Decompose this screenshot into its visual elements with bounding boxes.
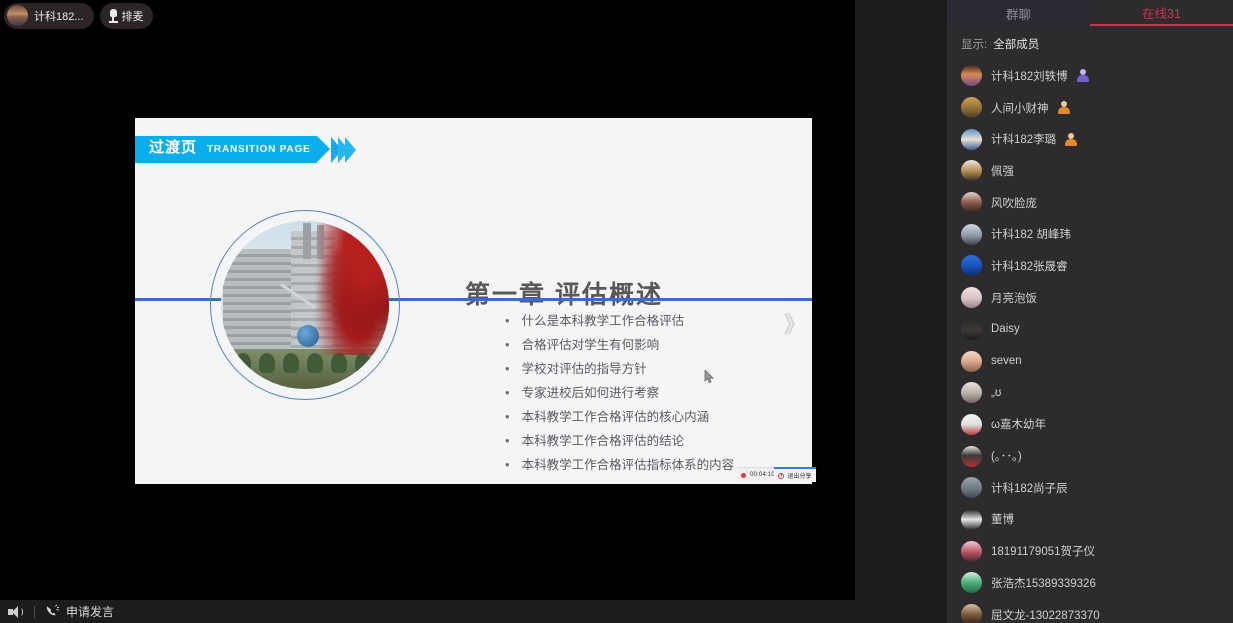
avatar — [961, 446, 982, 467]
member-name: 风吹脸庞 — [991, 195, 1037, 211]
list-item: • 本科教学工作合格评估的结论 — [505, 433, 805, 448]
bullet-text: 专家进校后如何进行考察 — [522, 385, 660, 400]
member-name: 张浩杰15389339326 — [991, 575, 1096, 591]
avatar — [961, 414, 982, 435]
bullet-marker: • — [505, 361, 510, 376]
member-name: seven — [991, 355, 1022, 367]
bullet-text: 本科教学工作合格评估指标体系的内容 — [522, 457, 735, 472]
list-item[interactable]: 人间小财神 — [947, 92, 1233, 124]
role-badge-icon — [1058, 101, 1070, 114]
member-name: 计科182张晟睿 — [991, 258, 1068, 274]
record-dot-icon — [741, 473, 746, 478]
member-name: 计科182 胡峰玮 — [991, 226, 1071, 242]
member-name: 计科182李璐 — [991, 131, 1056, 147]
presentation-slide[interactable]: 过渡页 TRANSITION PAGE — [135, 118, 812, 484]
avatar — [961, 541, 982, 562]
list-item: • 合格评估对学生有何影响 — [505, 337, 805, 352]
stage-top-chips: 计科182... 排麦 — [0, 0, 140, 31]
avatar — [961, 604, 982, 623]
member-list: 计科182刘轶博人间小财神计科182李璐佩强风吹脸庞计科182 胡峰玮计科182… — [947, 58, 1233, 623]
member-name: 人间小财神 — [991, 100, 1049, 116]
tab-group-chat[interactable]: 群聊 — [947, 0, 1090, 26]
avatar — [961, 224, 982, 245]
share-recording-indicator: 00:04:10 — [737, 467, 779, 482]
bullet-marker: • — [505, 385, 510, 400]
member-name: 18191179051贺子仪 — [991, 543, 1095, 559]
avatar — [961, 287, 982, 308]
slide-banner: 过渡页 TRANSITION PAGE — [135, 136, 356, 163]
mouse-cursor-icon — [704, 370, 715, 384]
tab-group-chat-label: 群聊 — [1006, 4, 1031, 23]
avatar — [961, 129, 982, 150]
list-item: • 专家进校后如何进行考察 — [505, 385, 805, 400]
member-name: „ʊ — [991, 387, 1001, 399]
mic-queue-button[interactable]: 排麦 — [100, 3, 153, 29]
list-item[interactable]: 董博 — [947, 504, 1233, 536]
member-name: ω嘉木幼年 — [991, 416, 1046, 432]
banner-title-cn: 过渡页 — [149, 136, 197, 157]
member-filter: 显示: 全部成员 — [947, 30, 1233, 58]
avatar — [7, 5, 28, 26]
avatar — [961, 255, 982, 276]
slide-banner-bar: 过渡页 TRANSITION PAGE — [135, 136, 317, 163]
avatar — [961, 477, 982, 498]
meeting-app-window: 计科182... 排麦 过渡页 TRANSITION PAGE — [0, 0, 1233, 623]
list-item: • 什么是本科教学工作合格评估 — [505, 313, 805, 328]
toolbar-divider — [34, 606, 35, 618]
member-name: 屈文龙-13022873370 — [991, 607, 1100, 623]
speaker-icon[interactable] — [8, 605, 24, 619]
member-filter-value[interactable]: 全部成员 — [993, 36, 1039, 52]
microphone-icon — [109, 9, 118, 23]
banner-title-en: TRANSITION PAGE — [207, 144, 310, 155]
list-item[interactable]: 计科182李璐 — [947, 123, 1233, 155]
avatar — [961, 97, 982, 118]
member-name: (｡･･｡) — [991, 448, 1022, 464]
list-item: • 学校对评估的指导方针 — [505, 361, 805, 376]
bullet-marker: • — [505, 409, 510, 424]
request-to-speak-button[interactable]: 申请发言 — [45, 603, 114, 620]
avatar — [961, 319, 982, 340]
member-name: 计科182刘轶博 — [991, 68, 1068, 84]
member-name: Daisy — [991, 323, 1020, 335]
member-name: 佩强 — [991, 163, 1014, 179]
slide-side-chevron-icon: 》 — [784, 314, 806, 336]
list-item[interactable]: 张浩杰15389339326 — [947, 567, 1233, 599]
member-name: 董博 — [991, 511, 1014, 527]
avatar — [961, 572, 982, 593]
list-item: • 本科教学工作合格评估的核心内涵 — [505, 409, 805, 424]
meeting-stage: 计科182... 排麦 过渡页 TRANSITION PAGE — [0, 0, 947, 623]
bullet-text: 学校对评估的指导方针 — [522, 361, 647, 376]
list-item[interactable]: seven — [947, 345, 1233, 377]
member-name: 计科182尚子辰 — [991, 480, 1068, 496]
campus-photo-ring — [210, 210, 400, 400]
phone-hand-icon — [45, 604, 60, 619]
list-item[interactable]: 计科182张晟睿 — [947, 250, 1233, 282]
bullet-text: 合格评估对学生有何影响 — [522, 337, 660, 352]
meeting-bottom-toolbar: 申请发言 — [0, 600, 947, 623]
list-item[interactable]: 风吹脸庞 — [947, 187, 1233, 219]
banner-chevron-icon — [335, 137, 356, 163]
tab-online-members-label: 在线31 — [1142, 3, 1181, 22]
avatar — [961, 160, 982, 181]
request-to-speak-label: 申请发言 — [66, 603, 114, 620]
list-item[interactable]: 佩强 — [947, 155, 1233, 187]
member-name: 月亮泡饭 — [991, 290, 1037, 306]
power-icon — [778, 473, 784, 479]
bullet-text: 本科教学工作合格评估的结论 — [522, 433, 685, 448]
exit-share-label: 退出分享 — [787, 471, 811, 480]
list-item[interactable]: 18191179051贺子仪 — [947, 535, 1233, 567]
exit-share-button[interactable]: 退出分享 — [774, 467, 816, 482]
campus-photo — [210, 210, 400, 400]
side-panel: 群聊 在线31 显示: 全部成员 计科182刘轶博人间小财神计科182李璐佩强风… — [947, 0, 1233, 623]
bullet-text: 本科教学工作合格评估的核心内涵 — [522, 409, 710, 424]
list-item[interactable]: „ʊ — [947, 377, 1233, 409]
panel-tabs: 群聊 在线31 — [947, 0, 1233, 26]
role-badge-icon — [1065, 133, 1077, 146]
slide-title: 第一章 评估概述 — [465, 275, 663, 311]
list-item[interactable]: 计科182 胡峰玮 — [947, 218, 1233, 250]
role-badge-icon — [1077, 69, 1089, 82]
avatar — [961, 65, 982, 86]
list-item[interactable]: 月亮泡饭 — [947, 282, 1233, 314]
list-item[interactable]: 屈文龙-13022873370 — [947, 599, 1233, 623]
bullet-text: 什么是本科教学工作合格评估 — [522, 313, 685, 328]
list-item[interactable]: (｡･･｡) — [947, 440, 1233, 472]
list-item[interactable]: 计科182刘轶博 — [947, 60, 1233, 92]
list-item[interactable]: 计科182尚子辰 — [947, 472, 1233, 504]
bullet-marker: • — [505, 433, 510, 448]
bullet-marker: • — [505, 457, 510, 472]
recording-timer: 00:04:10 — [750, 472, 775, 478]
bullet-marker: • — [505, 337, 510, 352]
avatar — [961, 192, 982, 213]
list-item[interactable]: Daisy — [947, 314, 1233, 346]
active-speaker-chip[interactable]: 计科182... — [4, 3, 94, 29]
avatar — [961, 382, 982, 403]
avatar — [961, 351, 982, 372]
member-filter-label: 显示: — [961, 36, 987, 52]
tab-online-members[interactable]: 在线31 — [1090, 0, 1233, 26]
active-speaker-name: 计科182... — [34, 8, 84, 24]
avatar — [961, 509, 982, 530]
bullet-marker: • — [505, 313, 510, 328]
mic-queue-label: 排麦 — [122, 8, 144, 24]
list-item[interactable]: ω嘉木幼年 — [947, 409, 1233, 441]
slide-bullet-list: • 什么是本科教学工作合格评估 • 合格评估对学生有何影响 • 学校对评估的指导… — [505, 313, 805, 481]
